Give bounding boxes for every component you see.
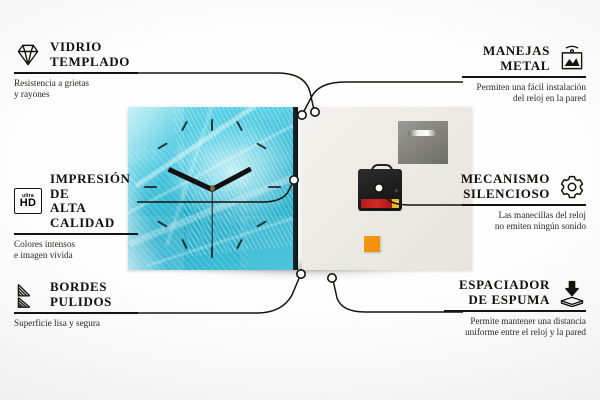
mechanism-hanging-loop xyxy=(371,164,393,175)
feature-description: Permite mantener una distancia uniforme … xyxy=(444,316,586,339)
feature-title-line1: IMPRESIÓN DE xyxy=(50,172,138,201)
ultra-hd-icon: ultra HD xyxy=(14,187,42,215)
feature-description: Superficie lisa y segura xyxy=(14,318,138,329)
feature-title-line2: TEMPLADO xyxy=(50,55,130,70)
hanger-slot xyxy=(408,130,436,136)
feature-espaciador-espuma: ESPACIADOR DE ESPUMA Permite mantener un… xyxy=(444,278,586,338)
feature-manejas-metal: MANEJAS METAL Permiten una fácil instala… xyxy=(462,44,586,104)
feature-title-line2: SILENCIOSO xyxy=(461,187,550,202)
feature-header: MECANISMO SILENCIOSO xyxy=(462,172,586,201)
metal-hanger-plate xyxy=(398,121,448,164)
feature-header: ultra HD IMPRESIÓN DE ALTA CALIDAD xyxy=(14,172,138,230)
feature-description: Resistencia a grietas y rayones xyxy=(14,78,138,101)
feature-title-line2: PULIDOS xyxy=(50,295,112,310)
diamond-icon xyxy=(14,41,42,69)
feature-vidrio-templado: VIDRIO TEMPLADO Resistencia a grietas y … xyxy=(14,40,138,100)
clock-tick xyxy=(211,119,213,131)
feature-desc-line2: no emiten ningún sonido xyxy=(462,221,586,232)
feature-description: Colores intensos e imagen vívida xyxy=(14,239,138,262)
feature-header: VIDRIO TEMPLADO xyxy=(14,40,138,69)
feature-impresion-alta-calidad: ultra HD IMPRESIÓN DE ALTA CALIDAD Color… xyxy=(14,172,138,261)
feature-desc-line1: Superficie lisa y segura xyxy=(14,318,138,329)
feature-desc-line1: Permite mantener una distancia xyxy=(444,316,586,327)
clock-mechanism-box xyxy=(358,169,402,211)
feature-desc-line1: Colores intensos xyxy=(14,239,138,250)
feature-header: MANEJAS METAL xyxy=(462,44,586,73)
feature-title: ESPACIADOR DE ESPUMA xyxy=(459,278,550,307)
battery-compartment xyxy=(361,199,399,208)
feature-title: MECANISMO SILENCIOSO xyxy=(461,172,550,201)
gear-icon xyxy=(558,173,586,201)
feature-divider xyxy=(14,72,138,74)
clock-second-hand xyxy=(211,189,212,247)
feature-title-line1: ESPACIADOR xyxy=(459,278,550,293)
feature-title: IMPRESIÓN DE ALTA CALIDAD xyxy=(50,172,138,230)
clock-tick xyxy=(144,186,157,188)
clock-tick xyxy=(268,186,281,188)
feature-desc-line2: del reloj en la pared xyxy=(462,93,586,104)
feature-title-line1: MECANISMO xyxy=(461,172,550,187)
polished-edges-icon xyxy=(14,281,42,309)
clock-side-edge xyxy=(293,107,298,270)
feature-desc-line1: Las manecillas del reloj xyxy=(462,210,586,221)
feature-bordes-pulidos: BORDES PULIDOS Superficie lisa y segura xyxy=(14,280,138,329)
infographic-canvas: VIDRIO TEMPLADO Resistencia a grietas y … xyxy=(0,0,600,400)
feature-title-line2: DE ESPUMA xyxy=(459,293,550,308)
picture-frame-hanger-icon xyxy=(558,45,586,73)
feature-desc-line1: Resistencia a grietas xyxy=(14,78,138,89)
feature-desc-line2: e imagen vívida xyxy=(14,250,138,261)
feature-description: Permiten una fácil instalación del reloj… xyxy=(462,82,586,105)
feature-mecanismo-silencioso: MECANISMO SILENCIOSO Las manecillas del … xyxy=(462,172,586,232)
connector-vidrio xyxy=(137,73,314,110)
clock-tick xyxy=(211,246,213,258)
clock-back-image xyxy=(302,107,472,270)
feature-header: BORDES PULIDOS xyxy=(14,280,138,309)
feature-title-line1: BORDES xyxy=(50,280,112,295)
feature-desc-line1: Permiten una fácil instalación xyxy=(462,82,586,93)
feature-desc-line2: y rayones xyxy=(14,89,138,100)
feature-divider xyxy=(462,76,586,78)
foam-spacer-pad xyxy=(364,236,380,252)
feature-header: ESPACIADOR DE ESPUMA xyxy=(444,278,586,307)
clock-front-image xyxy=(128,107,298,270)
feature-description: Las manecillas del reloj no emiten ningú… xyxy=(462,210,586,233)
feature-desc-line2: uniforme entre el reloj y la pared xyxy=(444,327,586,338)
feature-title: MANEJAS METAL xyxy=(483,44,550,73)
product-image-group xyxy=(128,107,472,270)
mechanism-detail-dot xyxy=(395,189,398,192)
ultra-hd-big-label: HD xyxy=(20,198,37,209)
feature-title-line2: METAL xyxy=(483,59,550,74)
foam-spacer-arrow-icon xyxy=(558,279,586,307)
feature-title-line2: ALTA CALIDAD xyxy=(50,201,138,230)
feature-title: BORDES PULIDOS xyxy=(50,280,112,309)
feature-title: VIDRIO TEMPLADO xyxy=(50,40,130,69)
feature-divider xyxy=(14,233,138,235)
feature-divider xyxy=(462,204,586,206)
feature-divider xyxy=(14,312,138,314)
feature-title-line1: VIDRIO xyxy=(50,40,130,55)
feature-title-line1: MANEJAS xyxy=(483,44,550,59)
feature-divider xyxy=(444,310,586,312)
clock-center-pin xyxy=(210,186,215,191)
